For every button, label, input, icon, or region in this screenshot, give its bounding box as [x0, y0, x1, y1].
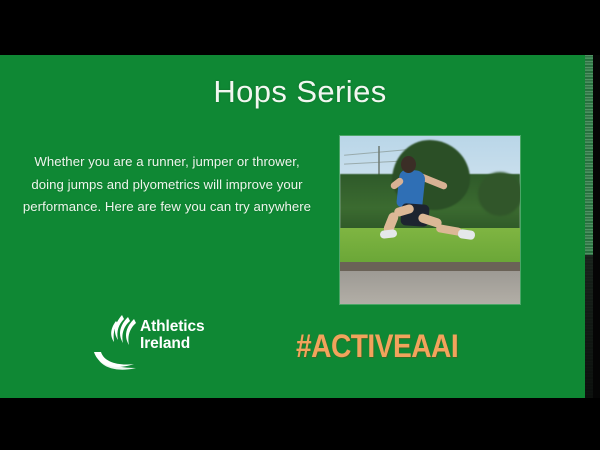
letterbox-top-bar [0, 0, 600, 55]
athlete-head [401, 156, 416, 173]
road-region [340, 271, 520, 304]
presentation-slide: Hops Series Whether you are a runner, ju… [0, 55, 600, 398]
letterbox-bottom-bar [0, 398, 600, 450]
athlete-shoe-extended [457, 229, 475, 240]
page-title: Hops Series [0, 76, 600, 107]
slide-body-text: Whether you are a runner, jumper or thro… [22, 151, 312, 219]
logo-wordmark: Athletics Ireland [140, 318, 205, 352]
logo-line-2: Ireland [140, 335, 205, 352]
right-edge-black-strip [593, 55, 600, 398]
flame-swoosh-icon [92, 312, 144, 372]
video-player-frame: Hops Series Whether you are a runner, ju… [0, 0, 600, 450]
campaign-hashtag: #ACTIVEAAI [296, 330, 498, 362]
athletics-ireland-logo: Athletics Ireland [92, 312, 232, 374]
logo-line-1: Athletics [140, 318, 205, 335]
photo-content [340, 136, 520, 304]
athlete-figure [392, 154, 492, 266]
edge-compression-artifact-lower [585, 255, 593, 398]
athlete-photo [340, 136, 520, 304]
athlete-shoe-folded [380, 229, 398, 239]
